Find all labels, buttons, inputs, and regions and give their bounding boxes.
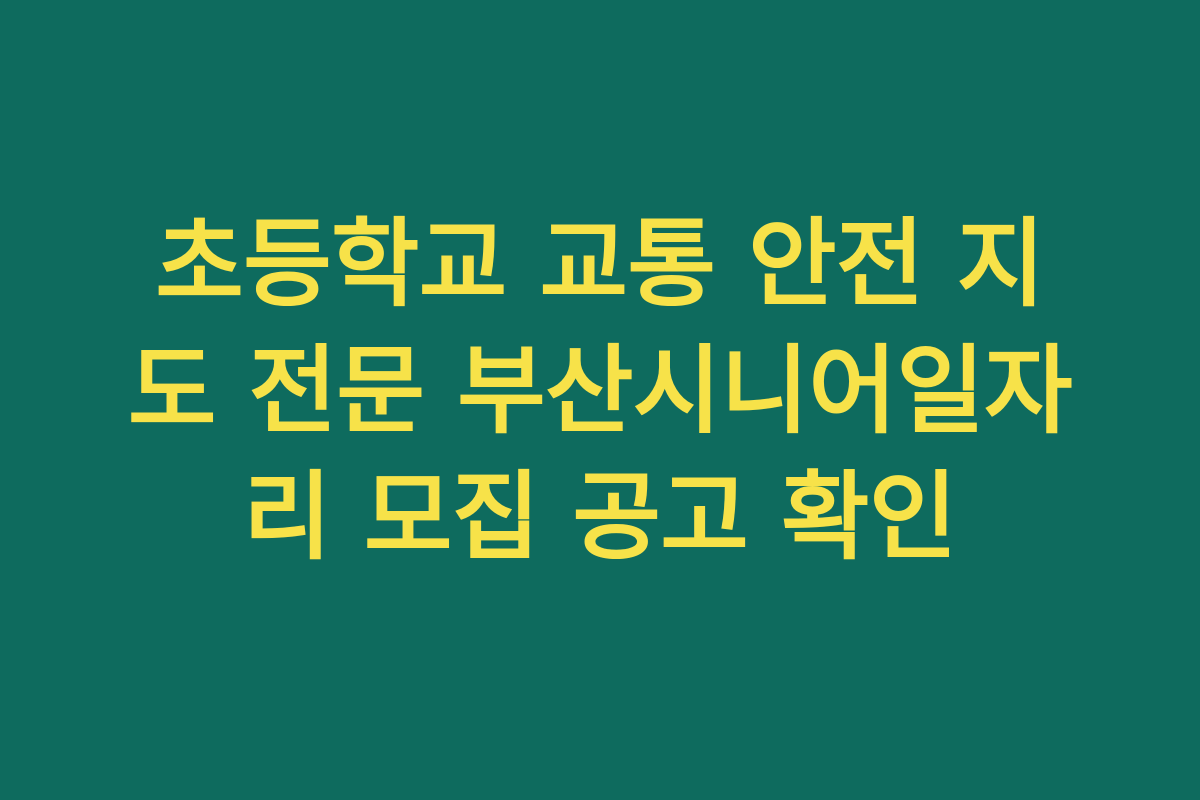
- headline-text-block: 초등학교 교통 안전 지 도 전문 부산시니어일자 리 모집 공고 확인: [80, 201, 1120, 581]
- text-thumbnail-card: 초등학교 교통 안전 지 도 전문 부산시니어일자 리 모집 공고 확인: [0, 0, 1200, 800]
- headline-line-2: 도 전문 부산시니어일자: [80, 328, 1120, 455]
- headline-line-1: 초등학교 교통 안전 지: [80, 201, 1120, 328]
- headline-line-3: 리 모집 공고 확인: [80, 454, 1120, 581]
